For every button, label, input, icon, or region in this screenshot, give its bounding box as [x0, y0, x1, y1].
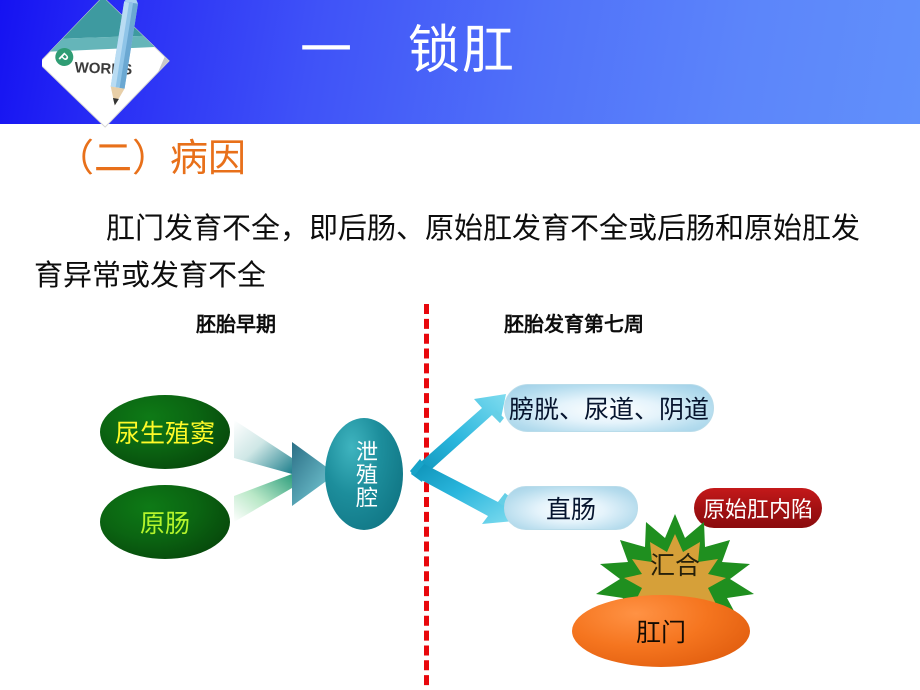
section-heading: （二）病因 — [56, 134, 246, 182]
node-urogenital-sinus: 尿生殖窦 — [100, 395, 230, 469]
node-junction-label: 汇合 — [588, 548, 762, 580]
node-anus: 肛门 — [572, 595, 750, 667]
node-bladder-urethra-vagina: 膀胱、尿道、阴道 — [504, 384, 714, 432]
body-paragraph: 肛门发育不全，即后肠、原始肛发育不全或后肠和原始肛发育异常或发育不全 — [34, 205, 888, 299]
embryology-diagram: 胚胎早期 胚胎发育第七周 尿生殖窦 原肠 — [0, 290, 920, 690]
stage-label-week7: 胚胎发育第七周 — [504, 308, 644, 337]
node-cloaca-label: 泄殖腔 — [349, 440, 379, 509]
slide-canvas: P WORKS 一 锁肛 （二）病因 肛门发育不全，即后肠、原始肛发育不全或后肠… — [0, 0, 920, 690]
stage-label-early: 胚胎早期 — [196, 308, 276, 337]
works-pencil-logo: P WORKS — [42, 0, 170, 146]
node-primitive-gut: 原肠 — [100, 485, 230, 559]
node-cloaca: 泄殖腔 — [325, 418, 403, 530]
page-title: 一 锁肛 — [300, 14, 860, 94]
